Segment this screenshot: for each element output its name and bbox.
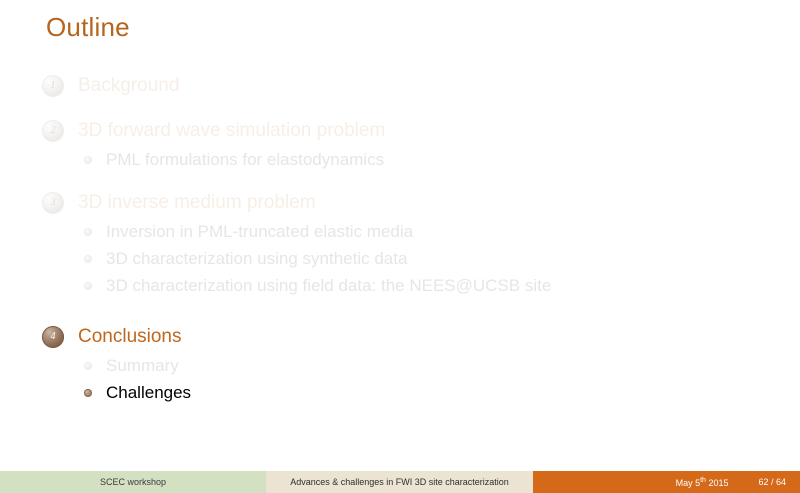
bullet-icon [84, 228, 92, 236]
outline-section: 4ConclusionsSummaryChallenges [0, 321, 800, 406]
bullet-icon [84, 362, 92, 370]
section-label: 3D forward wave simulation problem [78, 120, 385, 142]
subitem-label: 3D characterization using field data: th… [106, 276, 551, 296]
section-number-ball-icon: 1 [42, 75, 64, 97]
bullet-icon [84, 389, 92, 397]
outline-list: 1Background23D forward wave simulation p… [0, 70, 800, 406]
footer-date: May 5th 2015 [676, 477, 729, 488]
outline-section-row-2[interactable]: 23D forward wave simulation problem [0, 115, 800, 146]
section-number-ball-icon: 3 [42, 192, 64, 214]
section-label: Background [78, 75, 179, 97]
subitem-label: Challenges [106, 383, 191, 403]
outline-subitem-row[interactable]: 3D characterization using synthetic data [0, 245, 800, 272]
outline-section: 23D forward wave simulation problemPML f… [0, 115, 800, 173]
outline-subitem-row[interactable]: PML formulations for elastodynamics [0, 146, 800, 173]
outline-section-row-4[interactable]: 4Conclusions [0, 321, 800, 352]
footer-meta: May 5th 2015 62 / 64 [533, 471, 800, 493]
page-title: Outline [46, 12, 130, 43]
outline-section-row-1[interactable]: 1Background [0, 70, 800, 101]
footer-page-number: 62 / 64 [758, 477, 786, 487]
subitem-label: 3D characterization using synthetic data [106, 249, 407, 269]
outline-subitem-row[interactable]: Challenges [0, 379, 800, 406]
subitem-label: PML formulations for elastodynamics [106, 150, 384, 170]
bullet-icon [84, 255, 92, 263]
outline-section: 33D inverse medium problemInversion in P… [0, 187, 800, 299]
outline-subitem-row[interactable]: Inversion in PML-truncated elastic media [0, 218, 800, 245]
section-number-ball-icon: 2 [42, 120, 64, 142]
section-label: Conclusions [78, 326, 182, 348]
spacer [0, 173, 800, 187]
subitem-label: Inversion in PML-truncated elastic media [106, 222, 413, 242]
spacer [0, 101, 800, 115]
section-number-ball-icon: 4 [42, 326, 64, 348]
slide-footer: SCEC workshop Advances & challenges in F… [0, 471, 800, 493]
footer-presentation-title: Advances & challenges in FWI 3D site cha… [266, 471, 533, 493]
subitem-label: Summary [106, 356, 179, 376]
outline-section: 1Background [0, 70, 800, 101]
bullet-icon [84, 156, 92, 164]
spacer [0, 299, 800, 321]
outline-subitem-row[interactable]: Summary [0, 352, 800, 379]
section-label: 3D inverse medium problem [78, 192, 316, 214]
outline-section-row-3[interactable]: 33D inverse medium problem [0, 187, 800, 218]
bullet-icon [84, 282, 92, 290]
footer-event-name: SCEC workshop [0, 471, 266, 493]
presentation-slide: Outline 1Background23D forward wave simu… [0, 0, 800, 493]
outline-subitem-row[interactable]: 3D characterization using field data: th… [0, 272, 800, 299]
